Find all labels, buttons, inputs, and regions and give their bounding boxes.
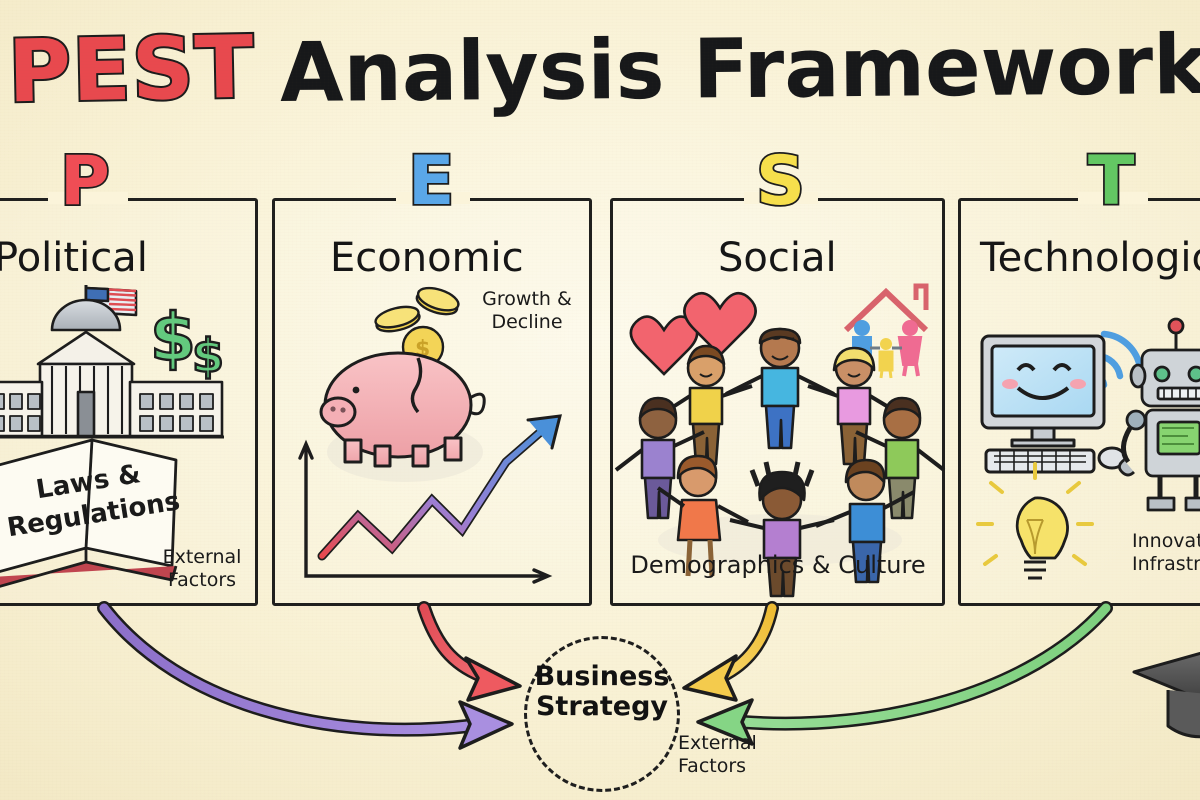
page-title: PEST Analysis Framework <box>8 18 1198 122</box>
graduation-cap-icon <box>1134 650 1200 737</box>
title-rest-words: Analysis Framework <box>280 25 1200 115</box>
side-note-growth-decline: Growth & Decline <box>460 288 594 334</box>
arrow-from-economic <box>424 608 520 700</box>
business-strategy-label: Business Strategy <box>516 662 688 722</box>
column-heading-political: Political <box>0 238 148 278</box>
title-accent-word: PEST <box>7 25 255 116</box>
column-letter-s: S <box>756 148 805 216</box>
hub-note-external-factors: External Factors <box>678 732 757 778</box>
column-letter-p: P <box>60 148 110 216</box>
arrow-from-political <box>104 608 512 748</box>
column-heading-social: Social <box>718 238 837 278</box>
whiteboard-canvas: PEST Analysis Framework P E S T Politica… <box>0 0 1200 800</box>
column-heading-economic: Economic <box>330 238 524 278</box>
caption-demographics-culture: Demographics & Culture <box>610 552 946 580</box>
column-heading-technological: Technological <box>980 238 1200 278</box>
side-note-innovation-infrastructure: Innovation & Infrastructure <box>1132 530 1200 576</box>
arrow-from-social <box>684 608 772 700</box>
side-note-external-factors-political: External Factors <box>146 546 258 592</box>
arrow-from-technological <box>698 608 1106 744</box>
column-letter-e: E <box>408 148 454 216</box>
column-letter-t: T <box>1088 148 1134 216</box>
